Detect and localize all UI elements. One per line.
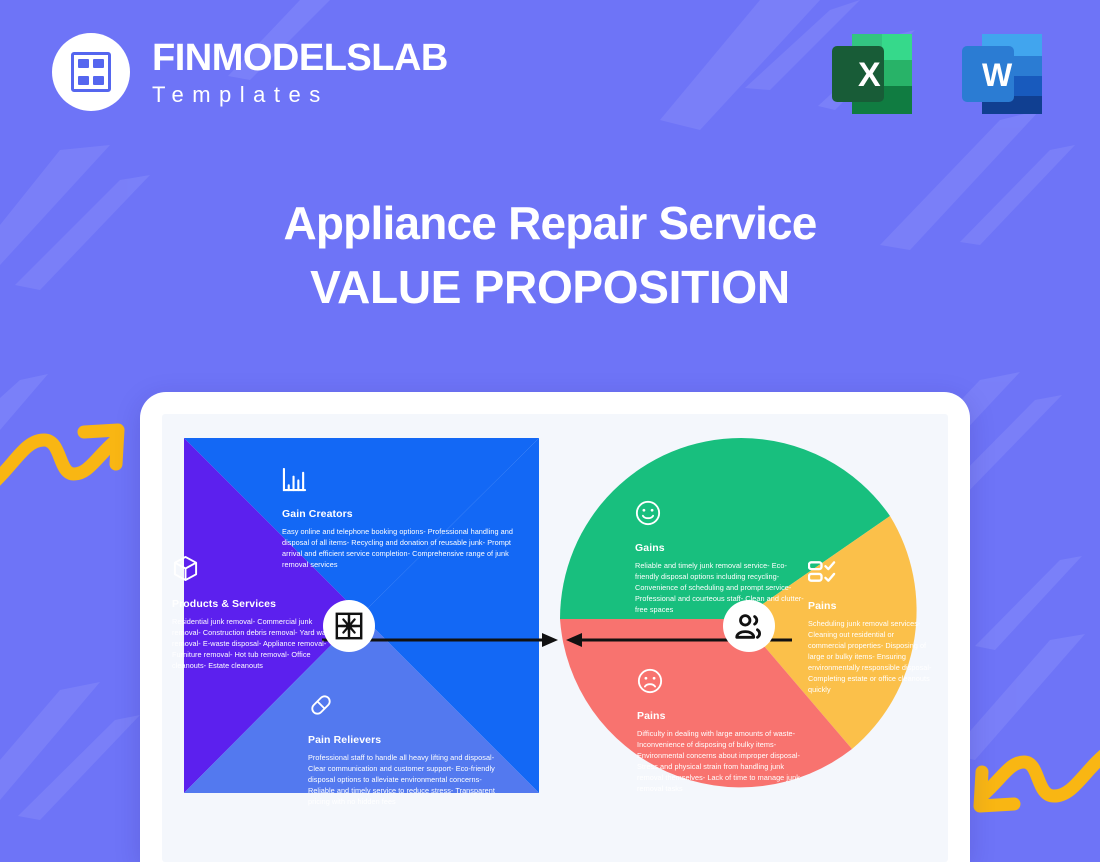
block-body: Scheduling junk removal services- Cleani… [808,618,933,696]
customers-icon-badge [723,600,775,652]
brand-name: FINMODELSLAB [152,39,448,77]
svg-text:W: W [982,57,1013,93]
double-headed-arrow [322,628,792,652]
block-title: Pain Relievers [308,734,508,746]
smiley-face-icon [635,500,807,531]
squiggle-arrow-up-right [0,400,132,520]
block-body: Difficulty in dealing with large amounts… [637,728,812,794]
squiggle-arrow-down-left [966,742,1100,852]
block-body: Reliable and timely junk removal service… [635,560,807,615]
block-title: Gains [635,542,807,554]
customers-icon [733,610,765,642]
block-gains: Gains Reliable and timely junk removal s… [635,500,807,615]
block-pain-relievers: Pain Relievers Professional staff to han… [308,692,508,807]
svg-text:X: X [858,56,881,94]
gift-box-icon-badge [323,600,375,652]
block-title: Gain Creators [282,508,514,520]
title-block: Appliance Repair Service VALUE PROPOSITI… [0,195,1100,316]
brand-logo[interactable]: FINMODELSLAB Templates [52,33,448,111]
office-format-badges: X W [826,28,1048,120]
excel-icon: X [826,28,918,120]
pill-capsule-icon [308,692,508,723]
gift-box-icon [334,611,364,641]
logo-badge [52,33,130,111]
page-title: Appliance Repair Service [0,195,1100,253]
block-body: Residential junk removal- Commercial jun… [172,616,337,671]
block-products-services: Products & Services Residential junk rem… [172,555,337,671]
block-title: Pains [637,710,812,722]
package-box-icon [172,555,337,587]
block-pains: Pains Difficulty in dealing with large a… [637,668,812,794]
page-header: FINMODELSLAB Templates X [0,0,1100,150]
block-title: Pains [808,600,933,612]
grid-squares-icon [71,52,111,92]
brand-subtitle: Templates [152,84,448,106]
block-body: Professional staff to handle all heavy l… [308,752,508,807]
page-subtitle: VALUE PROPOSITION [0,259,1100,317]
bar-chart-icon [282,468,514,497]
checklist-icon [808,560,933,589]
sad-face-icon [637,668,812,699]
block-title: Products & Services [172,598,337,610]
word-icon: W [956,28,1048,120]
block-customer-jobs: Pains Scheduling junk removal services- … [808,560,933,696]
